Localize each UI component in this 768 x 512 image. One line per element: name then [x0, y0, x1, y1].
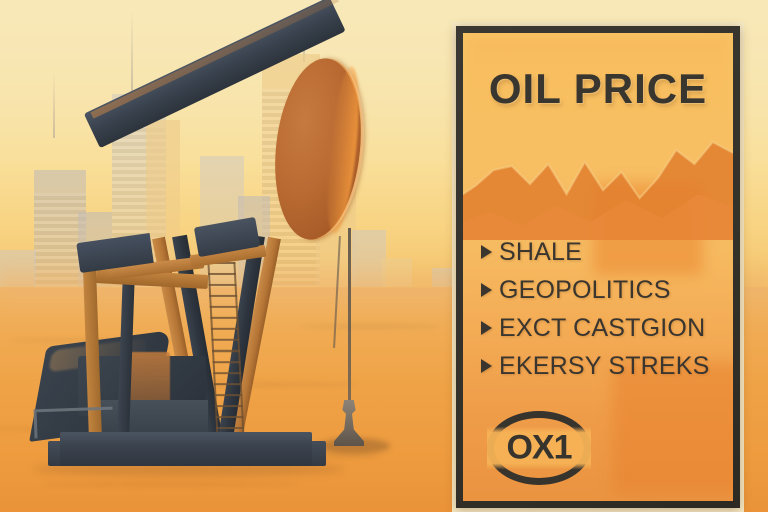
logo-text: OX1	[487, 427, 591, 470]
poster-topic-list: SHALE GEOPOLITICS EXCT CASTGION EKERSY S…	[481, 233, 725, 385]
oil-price-chart	[463, 128, 733, 240]
list-item: EKERSY STREKS	[481, 347, 725, 385]
pumpjack-handrail	[34, 407, 114, 439]
list-item-label: EKERSY STREKS	[499, 352, 710, 381]
pumpjack-base	[60, 432, 312, 466]
list-item: EXCT CASTGION	[481, 309, 725, 347]
list-item-label: SHALE	[499, 238, 582, 267]
poster-canvas: OIL PRICE SHALE GEOPOLITICS	[463, 33, 733, 501]
list-item: GEOPOLITICS	[481, 271, 725, 309]
wellhead	[334, 400, 364, 446]
list-item-label: EXCT CASTGION	[499, 314, 705, 343]
triangle-right-icon	[481, 359, 492, 373]
list-item: SHALE	[481, 233, 725, 271]
pumpjack-polished-rod	[348, 228, 351, 410]
oil-price-poster: OIL PRICE SHALE GEOPOLITICS	[452, 22, 744, 512]
list-item-label: GEOPOLITICS	[499, 276, 671, 305]
illustration-scene: OIL PRICE SHALE GEOPOLITICS	[0, 0, 768, 512]
triangle-right-icon	[481, 283, 492, 297]
triangle-right-icon	[481, 245, 492, 259]
ox1-logo: OX1	[487, 411, 591, 485]
oil-pumpjack	[0, 0, 470, 512]
poster-title: OIL PRICE	[463, 65, 733, 113]
triangle-right-icon	[481, 321, 492, 335]
chart-svg	[463, 128, 733, 240]
pumpjack-bridle-cable	[333, 236, 341, 348]
